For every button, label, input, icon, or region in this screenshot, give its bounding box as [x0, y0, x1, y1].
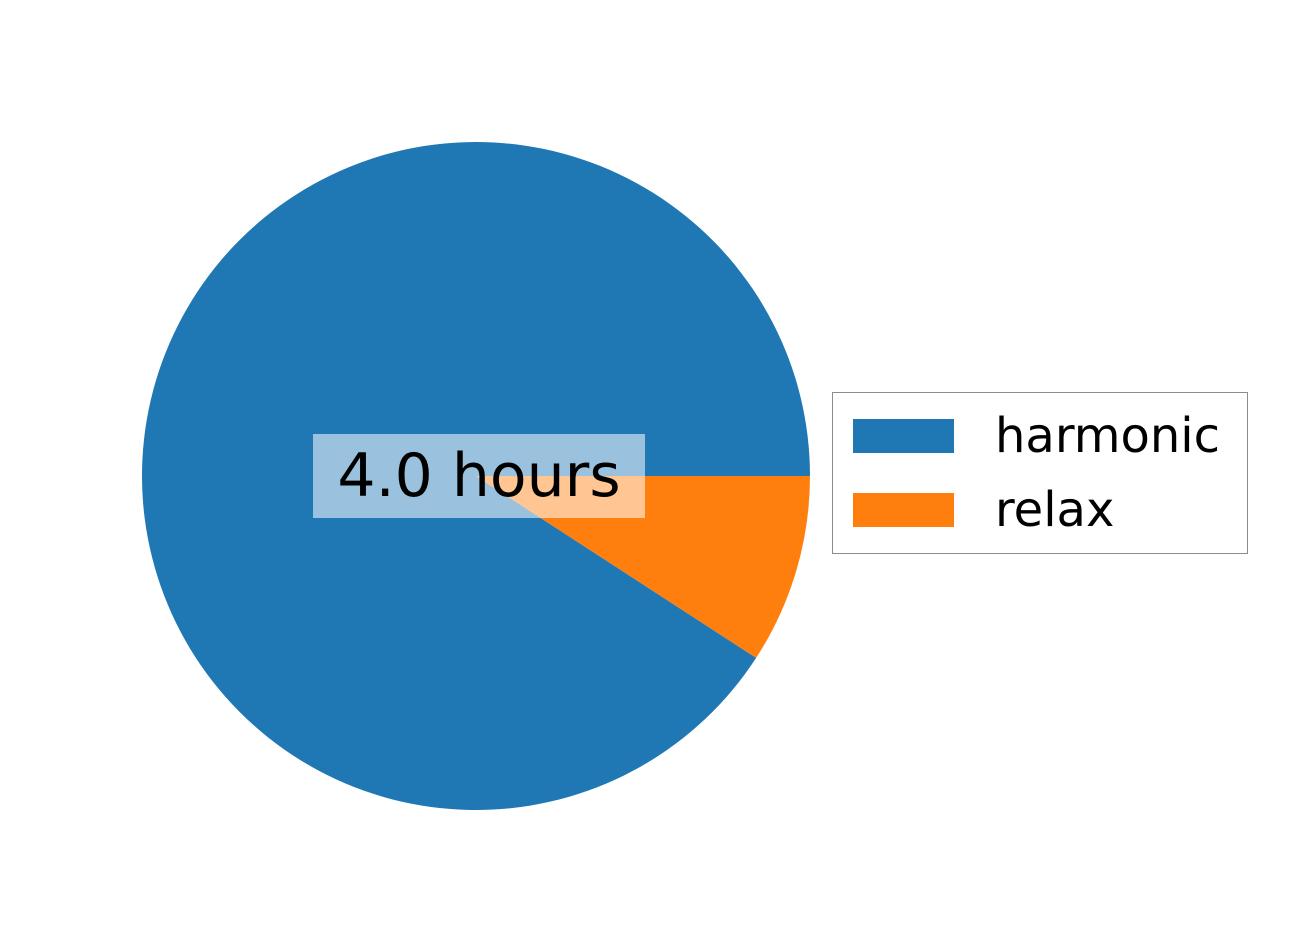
chart-legend: harmonic relax — [832, 392, 1248, 554]
center-value-text: 4.0 hours — [337, 446, 620, 506]
legend-label-harmonic: harmonic — [995, 412, 1220, 460]
legend-item-relax[interactable]: relax — [853, 487, 1114, 533]
legend-swatch-relax — [853, 493, 954, 527]
center-value-label: 4.0 hours — [313, 434, 645, 518]
legend-swatch-harmonic — [853, 419, 954, 453]
pie-chart-figure: 4.0 hours harmonic relax — [0, 0, 1307, 951]
legend-label-relax: relax — [995, 486, 1114, 534]
legend-item-harmonic[interactable]: harmonic — [853, 413, 1220, 459]
